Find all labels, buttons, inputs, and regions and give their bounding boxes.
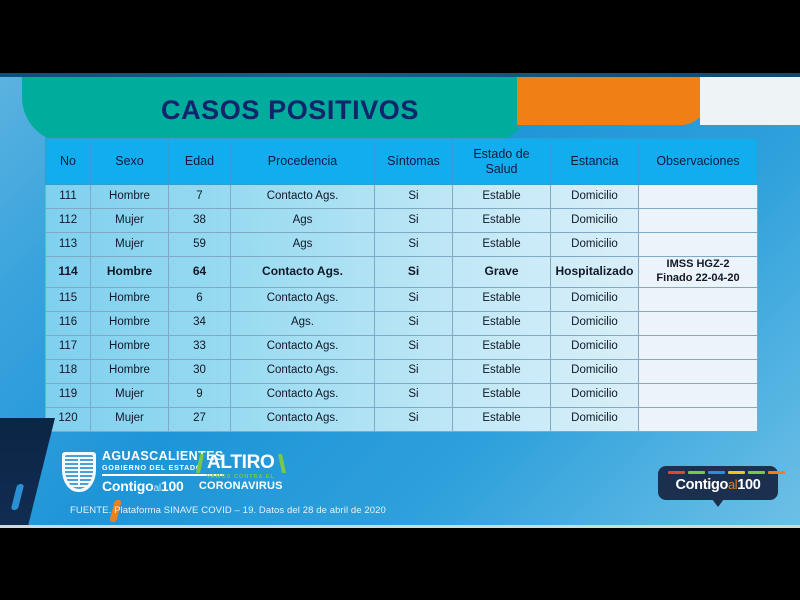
altiro-word: ALTIRO: [207, 453, 275, 472]
cell-sexo: Hombre: [91, 287, 169, 311]
cell-estado-salud: Estable: [453, 185, 551, 209]
cell-edad: 27: [169, 407, 231, 431]
slide-bottom-border: [0, 525, 800, 528]
cell-estancia: Domicilio: [551, 185, 639, 209]
badge-strip: [768, 471, 785, 474]
cell-edad: 34: [169, 311, 231, 335]
cell-procedencia: Contacto Ags.: [231, 407, 375, 431]
cell-sintomas: Si: [375, 287, 453, 311]
cell-edad: 38: [169, 209, 231, 233]
cell-sexo: Mujer: [91, 383, 169, 407]
badge-strip: [668, 471, 685, 474]
header-orange-block: [517, 77, 707, 125]
cases-table-wrapper: No Sexo Edad Procedencia Síntomas Estado…: [45, 138, 757, 432]
cell-procedencia: Ags: [231, 233, 375, 257]
cell-estado-salud: Estable: [453, 383, 551, 407]
cell-estado-salud: Estable: [453, 287, 551, 311]
cell-procedencia: Contacto Ags.: [231, 359, 375, 383]
column-header-observaciones: Observaciones: [639, 139, 758, 185]
column-header-sintomas: Síntomas: [375, 139, 453, 185]
cell-observaciones: [639, 209, 758, 233]
table-row[interactable]: 119Mujer9Contacto Ags.SiEstableDomicilio: [46, 383, 758, 407]
presentation-slide: CASOS POSITIVOS No Sexo Edad Procedencia…: [0, 73, 800, 528]
cell-sintomas: Si: [375, 407, 453, 431]
cell-observaciones: [639, 407, 758, 431]
table-row[interactable]: 115Hombre6Contacto Ags.SiEstableDomicili…: [46, 287, 758, 311]
cell-sintomas: Si: [375, 185, 453, 209]
cell-sintomas: Si: [375, 209, 453, 233]
column-header-no: No: [46, 139, 91, 185]
cell-estancia: Domicilio: [551, 335, 639, 359]
cell-sexo: Hombre: [91, 335, 169, 359]
case-number: 111: [46, 185, 91, 209]
contigo-al-100-badge: Contigoal100: [658, 466, 778, 500]
table-row[interactable]: 117Hombre33Contacto Ags.SiEstableDomicil…: [46, 335, 758, 359]
altiro-word-wrap: ALTIRO: [198, 453, 284, 472]
coat-of-arms-icon: [62, 452, 96, 492]
column-header-estancia: Estancia: [551, 139, 639, 185]
cell-procedencia: Contacto Ags.: [231, 257, 375, 288]
cell-sintomas: Si: [375, 383, 453, 407]
badge-text: Contigoal100: [658, 477, 778, 493]
slide-footer: AGUASCALIENTES GOBIERNO DEL ESTADO Conti…: [0, 450, 800, 528]
cell-edad: 9: [169, 383, 231, 407]
source-note: FUENTE. Plataforma SINAVE COVID – 19. Da…: [70, 505, 386, 516]
cell-procedencia: Contacto Ags.: [231, 383, 375, 407]
cell-edad: 30: [169, 359, 231, 383]
cell-procedencia: Contacto Ags.: [231, 185, 375, 209]
table-row[interactable]: 116Hombre34Ags.SiEstableDomicilio: [46, 311, 758, 335]
cell-estado-salud: Estable: [453, 407, 551, 431]
cell-observaciones: [639, 359, 758, 383]
cell-sexo: Mujer: [91, 209, 169, 233]
table-row[interactable]: 112Mujer38AgsSiEstableDomicilio: [46, 209, 758, 233]
cell-sintomas: Si: [375, 311, 453, 335]
badge-strip: [748, 471, 765, 474]
cell-procedencia: Ags.: [231, 311, 375, 335]
cell-procedencia: Contacto Ags.: [231, 335, 375, 359]
cell-observaciones: [639, 233, 758, 257]
case-number: 118: [46, 359, 91, 383]
table-header: No Sexo Edad Procedencia Síntomas Estado…: [46, 139, 758, 185]
cell-observaciones: [639, 185, 758, 209]
cell-observaciones: IMSS HGZ-2Finado 22-04-20: [639, 257, 758, 288]
case-number: 117: [46, 335, 91, 359]
corner-ribbon-decoration: [0, 418, 55, 528]
cell-observaciones: [639, 335, 758, 359]
badge-strip: [688, 471, 705, 474]
cell-estancia: Domicilio: [551, 233, 639, 257]
cell-observaciones: [639, 311, 758, 335]
gov-slogan-num: 100: [161, 478, 184, 494]
cell-estancia: Domicilio: [551, 209, 639, 233]
cell-sexo: Hombre: [91, 359, 169, 383]
cell-estancia: Domicilio: [551, 359, 639, 383]
page-title: CASOS POSITIVOS: [120, 95, 460, 126]
badge-strip: [728, 471, 745, 474]
cell-sexo: Mujer: [91, 407, 169, 431]
badge-color-strips: [668, 471, 785, 474]
altiro-subject: CORONAVIRUS: [198, 481, 284, 492]
cell-sintomas: Si: [375, 359, 453, 383]
cell-edad: 7: [169, 185, 231, 209]
cell-procedencia: Ags: [231, 209, 375, 233]
cell-estancia: Domicilio: [551, 311, 639, 335]
case-number: 112: [46, 209, 91, 233]
gov-slogan-word: Contigo: [102, 478, 153, 494]
altiro-logo: ALTIRO VAMOS CONTRA EL CORONAVIRUS: [198, 453, 284, 492]
case-number: 119: [46, 383, 91, 407]
cases-table: No Sexo Edad Procedencia Síntomas Estado…: [45, 138, 758, 432]
cell-estancia: Domicilio: [551, 407, 639, 431]
column-header-sexo: Sexo: [91, 139, 169, 185]
cell-sexo: Mujer: [91, 233, 169, 257]
cell-estado-salud: Estable: [453, 335, 551, 359]
cell-sexo: Hombre: [91, 311, 169, 335]
table-row[interactable]: 113Mujer59AgsSiEstableDomicilio: [46, 233, 758, 257]
cell-sexo: Hombre: [91, 257, 169, 288]
cell-sexo: Hombre: [91, 185, 169, 209]
cell-procedencia: Contacto Ags.: [231, 287, 375, 311]
cell-sintomas: Si: [375, 335, 453, 359]
header-white-block: [700, 77, 800, 125]
cell-edad: 64: [169, 257, 231, 288]
cell-observaciones: [639, 383, 758, 407]
gov-slogan-al: al: [153, 483, 160, 494]
cell-estado-salud: Estable: [453, 311, 551, 335]
badge-al-word: al: [728, 478, 737, 492]
cell-edad: 33: [169, 335, 231, 359]
case-number: 115: [46, 287, 91, 311]
cell-estancia: Domicilio: [551, 383, 639, 407]
table-row[interactable]: 118Hombre30Contacto Ags.SiEstableDomicil…: [46, 359, 758, 383]
table-body: 111Hombre7Contacto Ags.SiEstableDomicili…: [46, 185, 758, 432]
table-row[interactable]: 114Hombre64Contacto Ags.SiGraveHospitali…: [46, 257, 758, 288]
table-header-row: No Sexo Edad Procedencia Síntomas Estado…: [46, 139, 758, 185]
case-number: 114: [46, 257, 91, 288]
altiro-left-mark-icon: [196, 454, 204, 473]
cell-sintomas: Si: [375, 257, 453, 288]
screenshot-stage: CASOS POSITIVOS No Sexo Edad Procedencia…: [0, 0, 800, 600]
column-header-procedencia: Procedencia: [231, 139, 375, 185]
cell-edad: 59: [169, 233, 231, 257]
badge-strip: [708, 471, 725, 474]
cell-estado-salud: Estable: [453, 359, 551, 383]
cell-sintomas: Si: [375, 233, 453, 257]
table-row[interactable]: 111Hombre7Contacto Ags.SiEstableDomicili…: [46, 185, 758, 209]
badge-number: 100: [737, 477, 760, 493]
altiro-right-mark-icon: [277, 454, 285, 473]
cell-edad: 6: [169, 287, 231, 311]
cell-estancia: Hospitalizado: [551, 257, 639, 288]
cell-observaciones: [639, 287, 758, 311]
case-number: 113: [46, 233, 91, 257]
cell-estado-salud: Estable: [453, 209, 551, 233]
cell-estado-salud: Estable: [453, 233, 551, 257]
case-number: 116: [46, 311, 91, 335]
table-row[interactable]: 120Mujer27Contacto Ags.SiEstableDomicili…: [46, 407, 758, 431]
badge-main-word: Contigo: [675, 477, 728, 493]
cell-estancia: Domicilio: [551, 287, 639, 311]
cell-estado-salud: Grave: [453, 257, 551, 288]
column-header-edad: Edad: [169, 139, 231, 185]
column-header-estado-salud: Estado de Salud: [453, 139, 551, 185]
